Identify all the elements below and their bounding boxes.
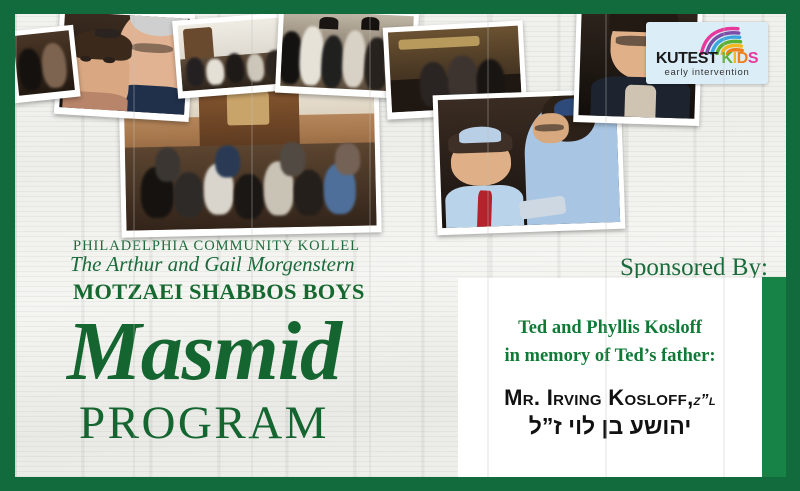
page-title: Masmid xyxy=(67,310,341,394)
program-line: MOTZAEI SHABBOS BOYS xyxy=(73,279,365,305)
logo-letter-s: S xyxy=(748,50,758,67)
logo-tagline: early intervention xyxy=(646,67,768,78)
flyer-root: PHILADELPHIA COMMUNITY KOLLEL The Arthur… xyxy=(0,0,800,491)
honoree-hebrew-name: יהושע בן לוי ז”ל xyxy=(529,413,692,440)
sponsor-panel: Ted and Phyllis Kosloff in memory of Ted… xyxy=(458,278,762,477)
kutest-kids-logo[interactable]: KUTEST KIDS early intervention xyxy=(646,22,768,84)
sponsor-memory-line: in memory of Ted’s father: xyxy=(504,343,715,371)
sponsor-names: Ted and Phyllis Kosloff xyxy=(518,315,702,343)
logo-kutest: KUTEST xyxy=(656,50,722,67)
honoree-name: Mr. Irving Kosloff,z”l xyxy=(504,385,716,411)
accent-bar xyxy=(762,277,786,477)
page-subtitle: PROGRAM xyxy=(79,396,329,450)
dedication-line: The Arthur and Gail Morgenstern xyxy=(70,252,355,277)
logo-letter-d: D xyxy=(737,50,748,67)
logo-letter-k: K xyxy=(722,50,733,67)
wood-background: PHILADELPHIA COMMUNITY KOLLEL The Arthur… xyxy=(15,14,786,477)
logo-wordmark: KUTEST KIDS xyxy=(646,50,768,68)
honoree-honorific: z”l xyxy=(694,392,716,409)
photo-small-left xyxy=(15,25,81,104)
honoree-name-text: Mr. Irving Kosloff, xyxy=(504,385,693,410)
